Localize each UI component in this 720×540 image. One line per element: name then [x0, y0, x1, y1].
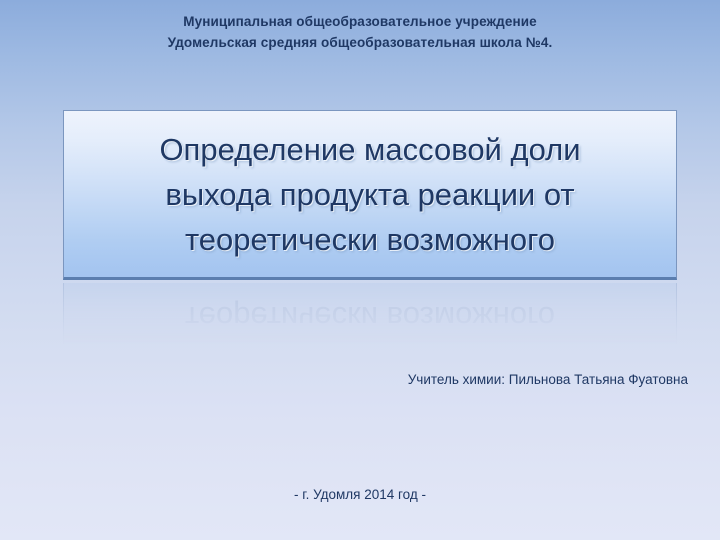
title-line-1: Определение массовой доли [159, 127, 580, 172]
reflection-text: теоретически возможного [63, 295, 677, 340]
school-header-line-1: Муниципальная общеобразовательное учрежд… [0, 11, 720, 32]
school-header-line-2: Удомельская средняя общеобразовательная … [0, 32, 720, 53]
title-box-reflection: теоретически возможного [63, 283, 677, 345]
school-header: Муниципальная общеобразовательное учрежд… [0, 11, 720, 53]
title-line-2: выхода продукта реакции от [165, 172, 574, 217]
presentation-slide: Муниципальная общеобразовательное учрежд… [0, 0, 720, 540]
reflection-backdrop [63, 283, 677, 345]
title-box: Определение массовой доли выхода продукт… [63, 110, 677, 280]
author-credit: Учитель химии: Пильнова Татьяна Фуатовна [0, 370, 720, 390]
city-year-footer: - г. Удомля 2014 год - [0, 485, 720, 505]
title-line-3: теоретически возможного [185, 217, 555, 262]
